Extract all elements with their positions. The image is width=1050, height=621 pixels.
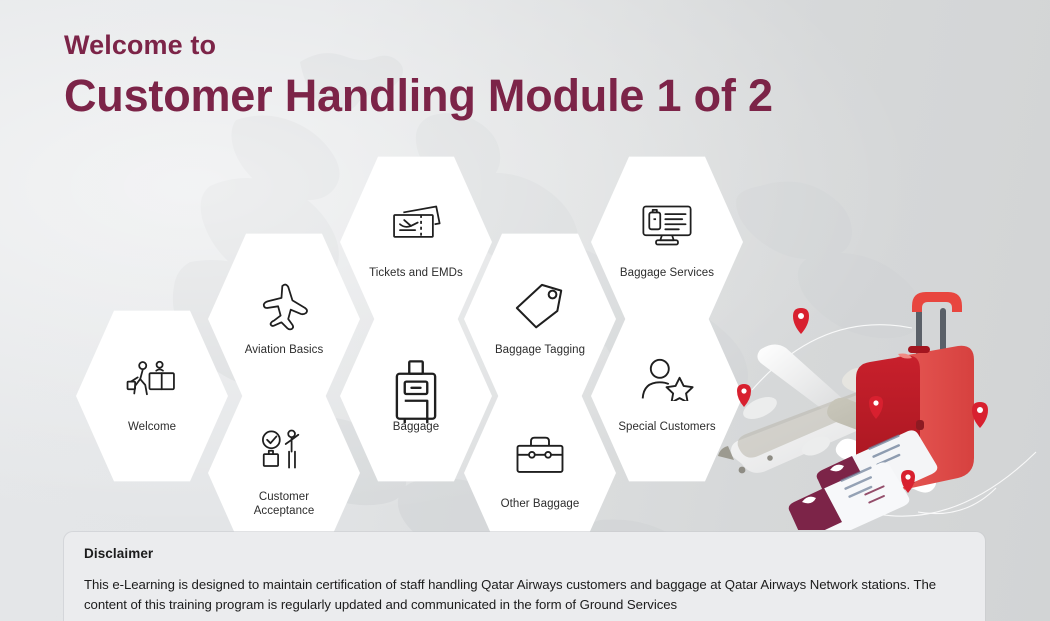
slide-stage: Welcome to Customer Handling Module 1 of… <box>0 0 1050 621</box>
hex-content: Aviation Basics <box>208 231 360 407</box>
disclaimer-panel: Disclaimer This e-Learning is designed t… <box>64 532 985 621</box>
luggage-tag-icon <box>513 281 567 335</box>
hex-module-label: Welcome <box>128 420 176 434</box>
hex-content: Welcome <box>76 308 228 484</box>
disclaimer-body: This e-Learning is designed to maintain … <box>84 575 964 616</box>
suitcase-icon <box>389 358 443 412</box>
hex-module-label: Tickets and EMDs <box>369 266 463 280</box>
boarding-pass-icon <box>389 204 443 258</box>
hex-module-welcome[interactable]: Welcome <box>76 308 228 484</box>
hex-module-label: Special Customers <box>618 420 715 434</box>
monitor-baggage-icon <box>640 204 694 258</box>
hex-module-label: Baggage Services <box>620 266 714 280</box>
hex-module-label: Baggage Tagging <box>495 343 585 357</box>
check-agent-icon <box>257 428 311 482</box>
airplane-icon <box>257 281 311 335</box>
hex-module-label: CustomerAcceptance <box>254 490 315 518</box>
page-title: Customer Handling Module 1 of 2 <box>64 73 773 118</box>
toolbox-icon <box>513 435 567 489</box>
hex-module-aviation-basics[interactable]: Aviation Basics <box>208 231 360 407</box>
disclaimer-title: Disclaimer <box>84 546 153 561</box>
passenger-with-luggage-icon <box>125 358 179 412</box>
hex-module-label: Other Baggage <box>501 497 580 511</box>
welcome-eyebrow: Welcome to <box>64 32 773 59</box>
airplane-suitcase-illustration <box>712 280 1050 530</box>
page-header: Welcome to Customer Handling Module 1 of… <box>64 32 773 118</box>
customer-star-icon <box>640 358 694 412</box>
hex-module-label: Baggage <box>393 420 439 434</box>
hex-module-label: Aviation Basics <box>245 343 324 357</box>
